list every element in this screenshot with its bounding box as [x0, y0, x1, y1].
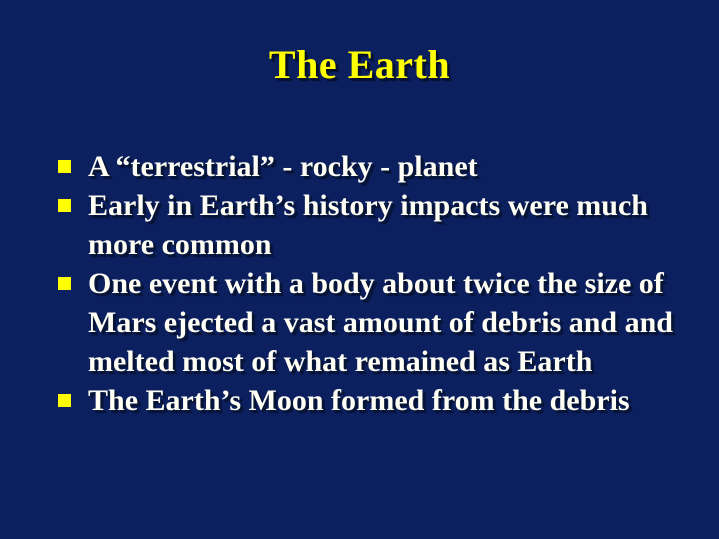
- list-item: The Earth’s Moon formed from the debris: [56, 381, 676, 420]
- square-bullet-icon: [58, 394, 71, 407]
- list-item-label: The Earth’s Moon formed from the debris: [88, 381, 676, 420]
- list-item-label: A “terrestrial” - rocky - planet: [88, 147, 676, 186]
- square-bullet-icon: [58, 160, 71, 173]
- list-item: Early in Earth’s history impacts were mu…: [56, 186, 676, 264]
- square-bullet-icon: [58, 277, 71, 290]
- bullet-list: A “terrestrial” - rocky - planet Early i…: [56, 147, 676, 420]
- page-title: The Earth: [0, 42, 719, 88]
- list-item-label: Early in Earth’s history impacts were mu…: [88, 186, 676, 264]
- square-bullet-icon: [58, 199, 71, 212]
- list-item-label: One event with a body about twice the si…: [88, 264, 676, 381]
- list-item: A “terrestrial” - rocky - planet: [56, 147, 676, 186]
- list-item: One event with a body about twice the si…: [56, 264, 676, 381]
- presentation-slide: The Earth A “terrestrial” - rocky - plan…: [0, 0, 719, 539]
